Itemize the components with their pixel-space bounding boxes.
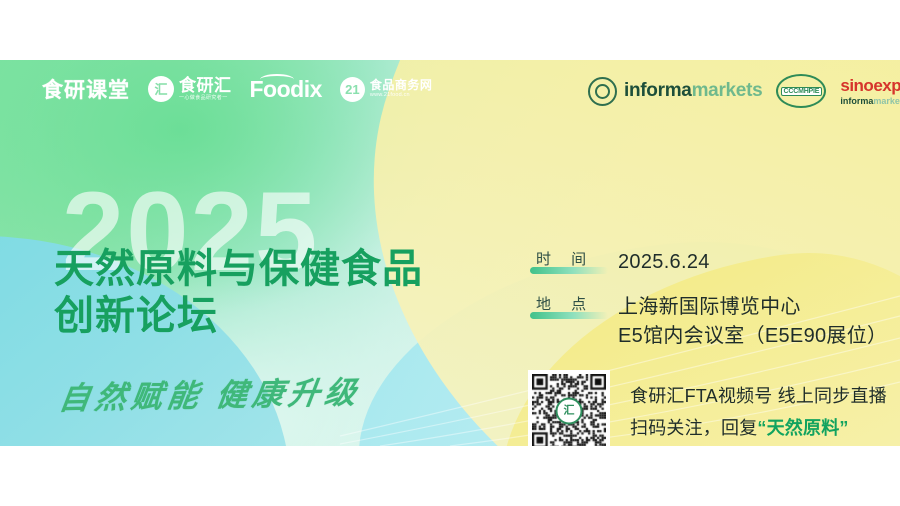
qr-line-2: 扫码关注，回复“天然原料”: [630, 414, 887, 440]
detail-row-venue: 地 点 上海新国际博览中心 E5馆内会议室（E5E90展位）: [536, 293, 886, 350]
detail-row-time: 时 间 2025.6.24: [536, 248, 886, 276]
logo-sinoexpo-sub-bold: informa: [840, 96, 873, 106]
detail-label-time: 时 间: [536, 248, 618, 272]
poster-page: 食研课堂 汇 食研汇 一心做食品研究者一 Foodix: [0, 0, 900, 506]
logo-sinoexpo: sinoexpo informamarkets: [840, 77, 900, 106]
logo-informa-markets: informamarkets: [588, 77, 762, 106]
logo-shiyanhui-label: 食研汇: [179, 77, 232, 94]
logo-informa-bold: informa: [624, 80, 692, 101]
partner-logos-left: 食研课堂 汇 食研汇 一心做食品研究者一 Foodix: [42, 74, 432, 104]
logo-21food-url: www.21food.cn: [370, 93, 433, 99]
logo-shiyanhui-tagline: 一心做食品研究者一: [179, 96, 232, 101]
qr-center-logo-icon: 汇: [556, 398, 583, 425]
page-title-line1: 天然原料与保健食品: [54, 247, 423, 291]
poster-canvas: 食研课堂 汇 食研汇 一心做食品研究者一 Foodix: [0, 60, 900, 446]
venue-line2: E5馆内会议室（E5E90展位）: [618, 322, 886, 350]
logo-shiyanketang-label: 食研课堂: [42, 79, 130, 102]
logo-21food-label: 食品商务网: [370, 79, 433, 91]
logo-shiyanhui-mark-icon: 汇: [148, 76, 174, 102]
partner-logos-right: informamarkets CCCMHPIE sinoexpo informa…: [588, 74, 900, 108]
logo-cccmhpie: CCCMHPIE: [776, 74, 826, 108]
logo-21food-badge-icon: 21: [340, 77, 365, 102]
detail-label-venue: 地 点: [536, 293, 618, 317]
event-details: 时 间 2025.6.24 地 点 上海新国际博览中心 E5馆内会议室（E5E9…: [536, 248, 886, 367]
qr-line-1: 食研汇FTA视频号 线上同步直播: [630, 382, 887, 408]
logo-strip: 食研课堂 汇 食研汇 一心做食品研究者一 Foodix: [0, 70, 900, 118]
logo-21food: 21 食品商务网 www.21food.cn: [340, 77, 433, 102]
foodix-swish-icon: [260, 74, 294, 85]
logo-shiyanketang: 食研课堂: [42, 74, 130, 104]
calligraphy-slogan: 自然赋能 健康升级: [56, 367, 364, 418]
logo-foodix: Foodix: [250, 76, 322, 103]
venue-line1: 上海新国际博览中心: [618, 296, 801, 318]
informa-ring-icon: [588, 77, 617, 106]
detail-label-underline: [530, 267, 608, 274]
logo-shiyanhui: 汇 食研汇 一心做食品研究者一: [148, 76, 232, 102]
page-title-line2: 创新论坛: [54, 293, 524, 340]
qr-line-2-highlight: “天然原料”: [757, 418, 848, 438]
logo-sinoexpo-sub-light: markets: [873, 96, 900, 106]
logo-informa-light: markets: [692, 80, 763, 101]
qr-instructions: 食研汇FTA视频号 线上同步直播 扫码关注，回复“天然原料”: [630, 382, 887, 440]
qr-code[interactable]: 汇: [528, 370, 610, 446]
qr-line-2-prefix: 扫码关注，回复: [630, 418, 757, 438]
detail-label-underline: [530, 312, 608, 319]
detail-value-venue: 上海新国际博览中心 E5馆内会议室（E5E90展位）: [618, 293, 886, 350]
detail-value-time: 2025.6.24: [618, 248, 710, 276]
logo-cccmhpie-label: CCCMHPIE: [781, 87, 823, 96]
logo-sinoexpo-label: sinoexpo: [840, 77, 900, 94]
page-title: 天然原料与保健食品 创新论坛: [54, 246, 524, 340]
qr-callout: 汇 食研汇FTA视频号 线上同步直播 扫码关注，回复“天然原料”: [528, 370, 887, 446]
